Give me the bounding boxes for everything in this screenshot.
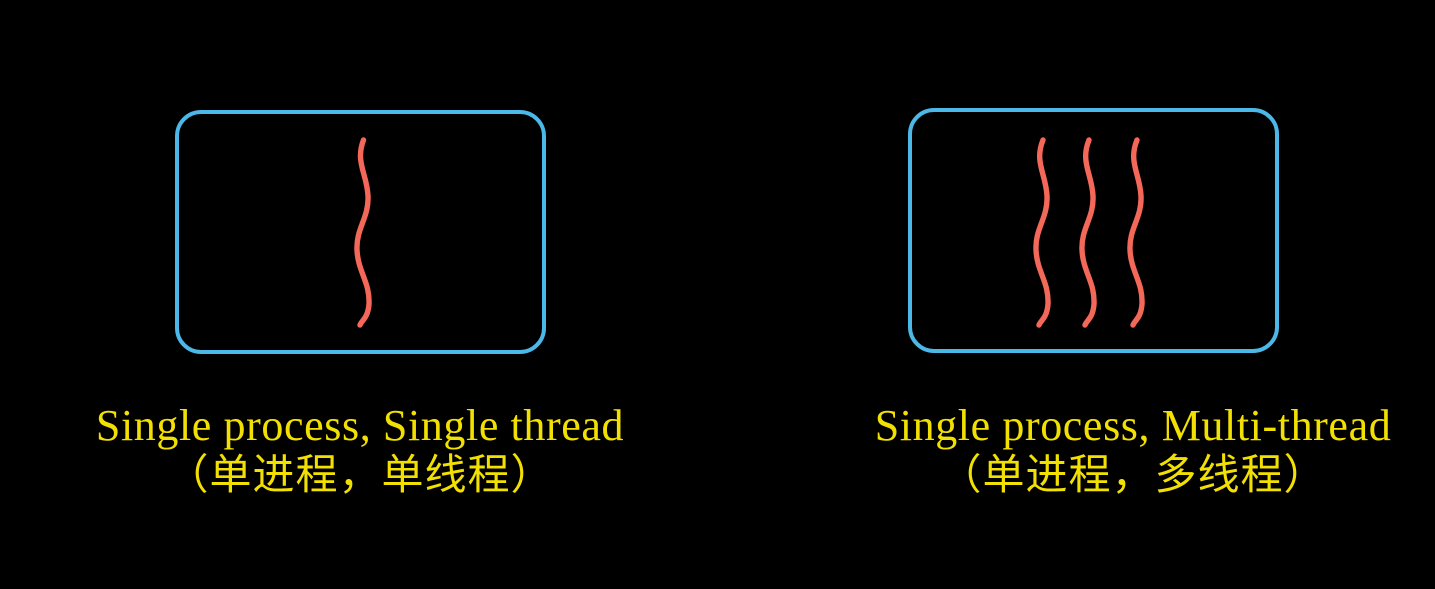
caption-chinese-multi: （单进程，多线程）: [773, 454, 1435, 496]
caption-chinese-single: （单进程，单线程）: [0, 454, 720, 496]
caption-multi-thread: Single process, Multi-thread （单进程，多线程）: [773, 404, 1435, 496]
diagram-canvas: Single process, Single thread （单进程，单线程） …: [0, 0, 1435, 589]
caption-english-single: Single process, Single thread: [0, 404, 720, 448]
caption-single-thread: Single process, Single thread （单进程，单线程）: [0, 404, 720, 496]
panel-single-thread: Single process, Single thread （单进程，单线程）: [0, 0, 720, 589]
caption-english-multi: Single process, Multi-thread: [773, 404, 1435, 448]
panel-multi-thread: Single process, Multi-thread （单进程，多线程）: [715, 0, 1435, 589]
process-box-single-thread: [175, 110, 546, 354]
process-box-multi-thread: [908, 108, 1279, 353]
